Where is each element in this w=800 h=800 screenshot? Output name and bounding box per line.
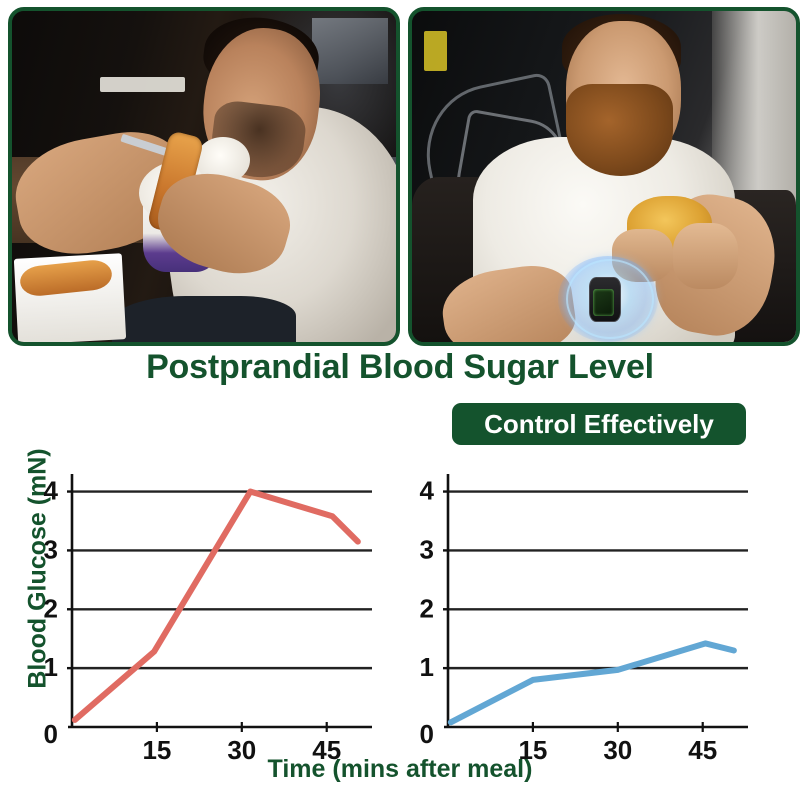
photo-frame-right [400,0,800,345]
y-tick-label-1: 1 [44,652,58,682]
charts-container: Blood Glucose (mN) 01234153045 012341530… [0,450,800,800]
control-effectively-badge: Control Effectively [452,403,746,445]
photo1-white-board [100,77,184,92]
photo-row [0,0,800,345]
series-line-0 [75,492,358,720]
y-tick-label-3: 3 [420,534,434,564]
page-title: Postprandial Blood Sugar Level [0,348,800,387]
photo-frame-left [0,0,400,345]
photo2-right-hand [673,223,738,289]
plot-area-uncontrolled: 01234153045 [0,450,400,760]
badge-label: Control Effectively [484,409,714,440]
y-tick-label-2: 2 [44,593,58,623]
y-tick-label-2: 2 [420,593,434,623]
series-line-0 [451,643,734,722]
x-axis-label: Time (mins after meal) [0,755,800,784]
photo2-beard [566,84,674,177]
y-tick-label-4: 4 [44,476,59,506]
y-tick-label-3: 3 [44,534,58,564]
chart-uncontrolled: Blood Glucose (mN) 01234153045 [0,450,400,760]
photo2-yellow-object [424,31,447,71]
chart-controlled: 01234153045 [400,450,800,760]
y-tick-label-0: 0 [44,719,58,749]
photo-man-eating-churros [8,7,400,346]
photo2-watch-face [593,289,614,315]
photo1-dark-pants [112,296,296,346]
photo1-window [312,18,389,84]
y-tick-label-1: 1 [420,652,434,682]
y-tick-label-4: 4 [420,476,435,506]
photo-bearded-man-eating-burger [408,7,800,346]
y-tick-label-0: 0 [420,719,434,749]
plot-area-controlled: 01234153045 [400,450,800,760]
